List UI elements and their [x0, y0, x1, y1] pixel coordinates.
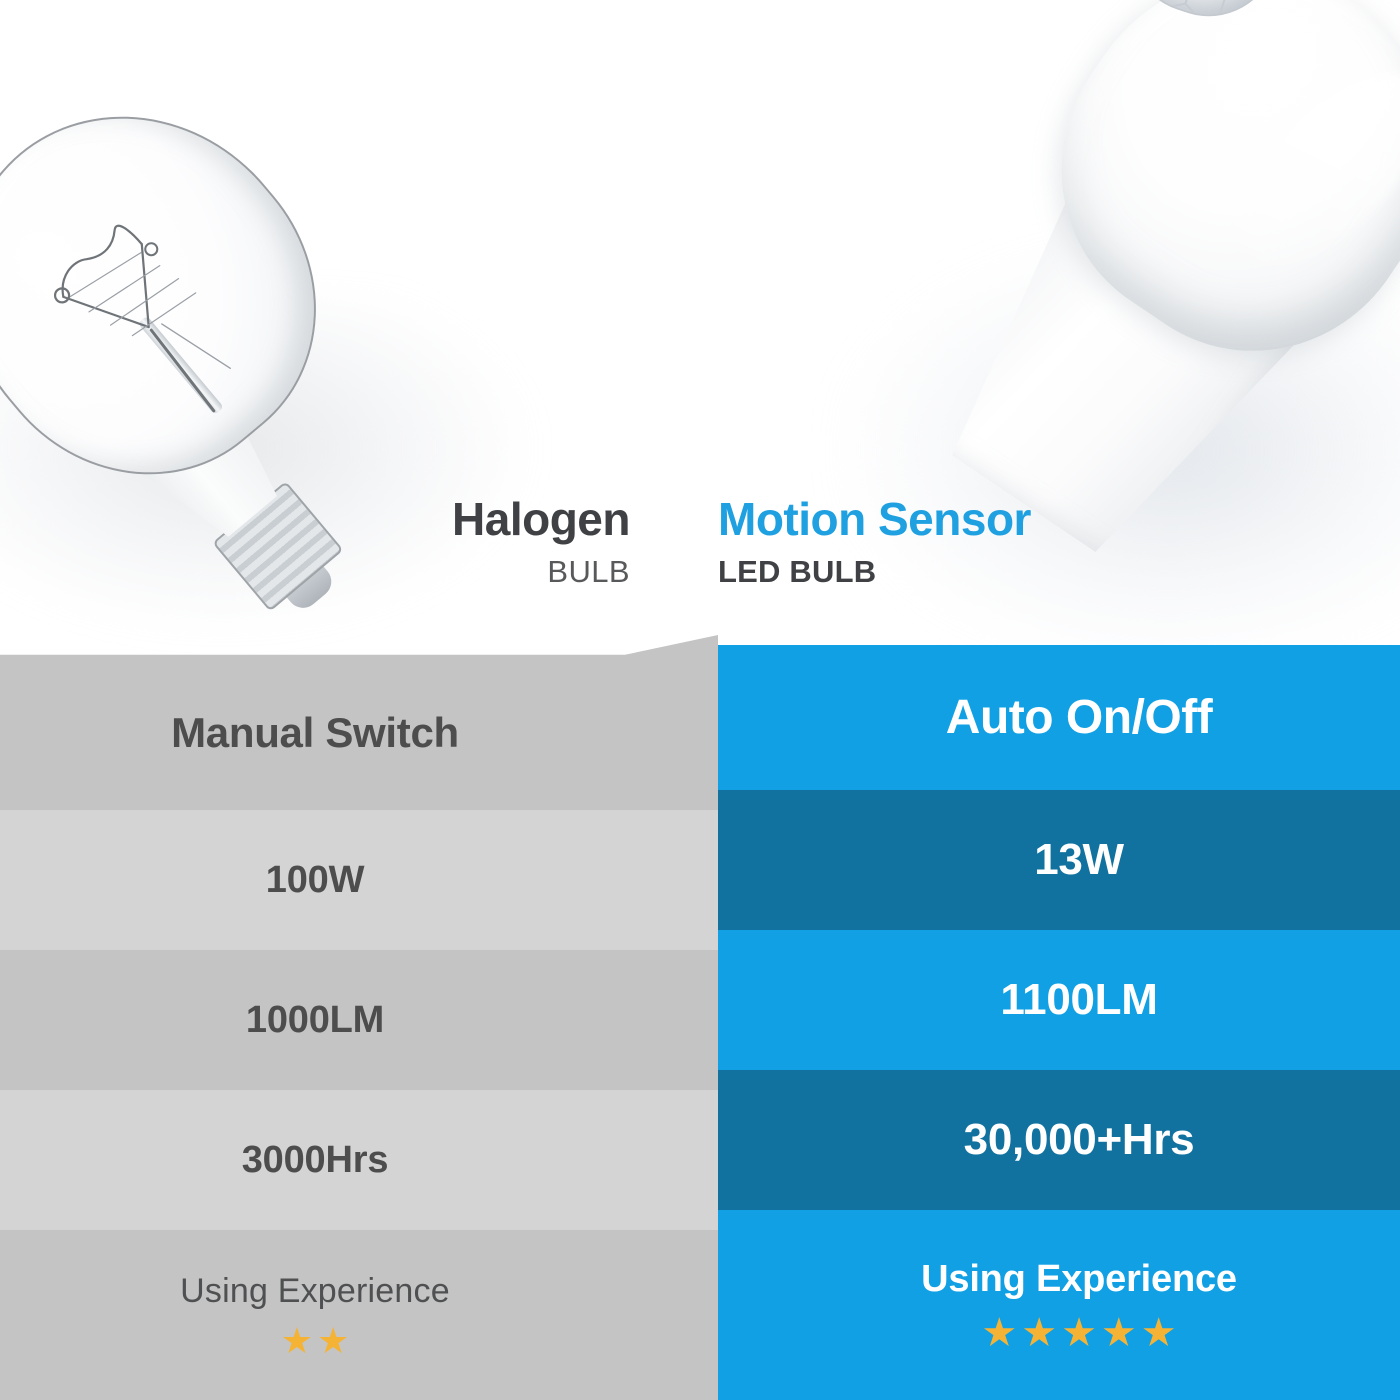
led-column: Auto On/Off 13W 1100LM 30,000+Hrs Using …: [718, 645, 1400, 1400]
led-subtitle: LED BULB: [718, 554, 1138, 590]
cell-right-experience-label: Using Experience: [921, 1258, 1237, 1301]
star-icon: ★: [1021, 1313, 1057, 1353]
table-row: Using Experience ★★: [0, 1230, 718, 1400]
star-icon: ★: [317, 1323, 349, 1359]
led-title: Motion Sensor: [718, 495, 1138, 544]
table-row: Using Experience ★★★★★: [718, 1210, 1400, 1400]
star-icon: ★: [1141, 1313, 1177, 1353]
left-experience-block: Using Experience ★★: [180, 1272, 450, 1359]
star-icon: ★: [281, 1323, 313, 1359]
right-experience-block: Using Experience ★★★★★: [921, 1258, 1237, 1353]
cell-left-lumens: 1000LM: [246, 999, 384, 1042]
table-row: 30,000+Hrs: [718, 1070, 1400, 1210]
right-star-rating: ★★★★★: [981, 1313, 1176, 1353]
cell-right-switch: Auto On/Off: [946, 690, 1212, 745]
halogen-label-group: Halogen BULB: [330, 495, 630, 590]
cell-left-experience-label: Using Experience: [180, 1272, 450, 1311]
comparison-infographic: Halogen BULB Motion Sensor LED BULB Manu…: [0, 0, 1400, 1400]
table-row: 100W: [0, 810, 718, 950]
cell-right-wattage: 13W: [1034, 835, 1124, 885]
table-row: 13W: [718, 790, 1400, 930]
star-icon: ★: [1061, 1313, 1097, 1353]
led-label-group: Motion Sensor LED BULB: [718, 495, 1138, 590]
star-icon: ★: [1101, 1313, 1137, 1353]
table-row: 3000Hrs: [0, 1090, 718, 1230]
table-row: Manual Switch: [0, 655, 718, 810]
table-row: Auto On/Off: [718, 645, 1400, 790]
cell-left-wattage: 100W: [266, 859, 364, 902]
left-star-rating: ★★: [281, 1323, 350, 1359]
halogen-title: Halogen: [330, 495, 630, 544]
cell-right-lumens: 1100LM: [1000, 975, 1157, 1025]
cell-left-switch: Manual Switch: [171, 709, 459, 757]
star-icon: ★: [981, 1313, 1017, 1353]
table-row: 1100LM: [718, 930, 1400, 1070]
halogen-column: Manual Switch 100W 1000LM 3000Hrs Using …: [0, 620, 718, 1400]
halogen-subtitle: BULB: [330, 554, 630, 590]
cell-left-lifespan: 3000Hrs: [242, 1139, 389, 1182]
table-row: 1000LM: [0, 950, 718, 1090]
cell-right-lifespan: 30,000+Hrs: [964, 1115, 1195, 1165]
hero-product-photos: Halogen BULB Motion Sensor LED BULB: [0, 0, 1400, 660]
comparison-table: Manual Switch 100W 1000LM 3000Hrs Using …: [0, 620, 1400, 1400]
